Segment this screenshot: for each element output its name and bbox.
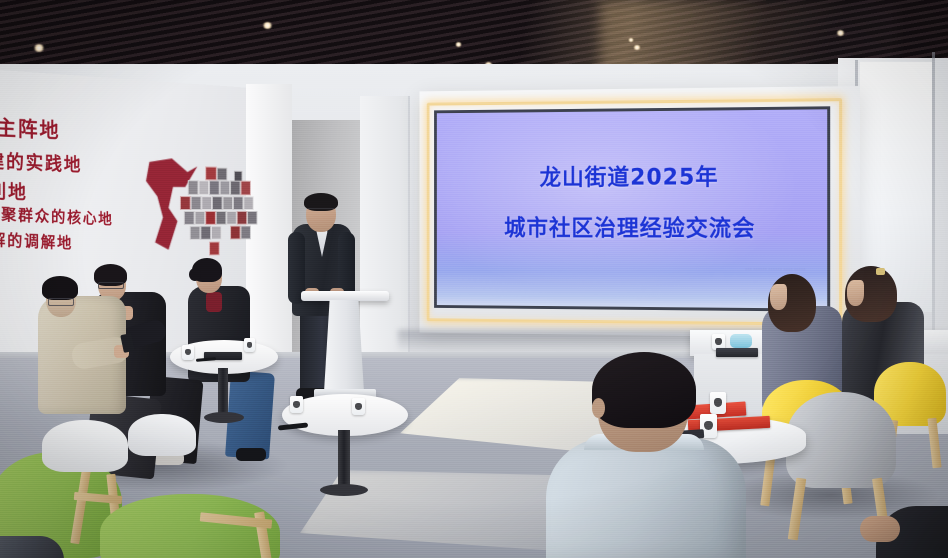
photo-tile	[243, 196, 253, 210]
photo-tile	[230, 226, 240, 240]
attendee-foreground-ear	[592, 398, 605, 418]
photo-tile	[201, 196, 212, 210]
photo-tile	[191, 196, 202, 210]
round-table-left-stem	[218, 368, 228, 416]
paper-cup[interactable]	[290, 396, 303, 413]
attendee-beige-glasses-icon	[48, 298, 74, 306]
meeting-room-photo: 主阵地 建的实践地 利地 凝聚群众的核心地 解的调解地	[0, 0, 948, 558]
calligraphy-line-1: 主阵地	[0, 112, 60, 144]
attendee-blue-jeans-hairbun	[189, 268, 201, 281]
presentation-screen[interactable]: 龙山街道2025年 城市社区治理经验交流会 ◦◦◦ ◦◦◦◦◦◦ ◦◦◦◦◦◦ …	[437, 109, 827, 308]
slide-footnote: ◦◦◦ ◦◦◦◦◦◦ ◦◦◦◦◦◦ ◦◦◦◦ ◦◦◦◦◦	[689, 266, 806, 273]
calligraphy-line-5: 解的调解地	[0, 226, 73, 253]
paper-cup[interactable]	[182, 345, 194, 360]
speaker-glasses	[307, 208, 334, 213]
attendee-black-coat-glasses-icon	[98, 282, 124, 289]
photo-tile	[205, 211, 216, 225]
podium-body	[324, 300, 364, 392]
photo-tile	[190, 226, 201, 240]
photo-tile	[211, 226, 222, 240]
photo-tile	[188, 180, 199, 195]
wall-seam-2	[932, 52, 935, 352]
photo-tile	[200, 226, 211, 240]
photo-tile	[216, 211, 227, 225]
downlight-6	[633, 45, 641, 50]
downlight-9	[33, 44, 45, 52]
photo-tile	[195, 211, 206, 225]
photo-tile	[212, 196, 223, 210]
photo-tile	[241, 226, 251, 240]
photo-collage-grid	[176, 166, 264, 254]
round-table-center-stem	[338, 430, 350, 488]
attendee-blue-jeans-scarf	[206, 292, 222, 312]
paper-cup[interactable]	[244, 338, 255, 352]
photo-tile	[230, 181, 240, 196]
round-table-left-base	[204, 412, 244, 423]
downlight-5	[455, 42, 462, 47]
photo-tile	[209, 242, 220, 256]
slide-title-line-2: 城市社区治理经验交流会	[437, 209, 827, 243]
photo-tile	[233, 196, 243, 210]
attendee-black-vest-face	[847, 280, 864, 306]
attendee-corner-hand	[860, 516, 900, 542]
chair-white-left[interactable]	[42, 420, 128, 472]
photo-tile	[226, 211, 236, 225]
downlight-1	[262, 22, 273, 29]
round-table-center-base	[320, 484, 368, 496]
dark-notebook[interactable]	[716, 348, 758, 357]
photo-tile	[209, 180, 220, 195]
photo-tile	[223, 196, 233, 210]
photo-tile	[237, 211, 247, 225]
photo-tile	[205, 166, 217, 180]
photo-tile	[247, 211, 257, 225]
photo-tile	[184, 211, 195, 225]
attendee-grey-sweater-face	[770, 284, 787, 310]
paper-cup[interactable]	[352, 398, 365, 415]
photo-tile	[217, 168, 227, 181]
podium-top	[301, 291, 389, 301]
photo-tile	[220, 180, 230, 195]
hair-clip	[876, 268, 885, 275]
attendee-blue-jeans-shoe	[236, 448, 266, 461]
downlight-8	[628, 38, 634, 42]
calligraphy-line-2: 建的实践地	[0, 146, 82, 177]
photo-tile	[180, 196, 191, 210]
chair-white-left-2[interactable]	[128, 414, 196, 456]
photo-tile	[198, 180, 209, 195]
wall-seam-3	[408, 96, 410, 364]
attendee-foreground-torso	[546, 438, 746, 558]
water-bottle[interactable]	[730, 334, 752, 348]
photo-tile	[241, 181, 251, 196]
slide-title-line-1: 龙山街道2025年	[437, 157, 827, 192]
downlight-7	[836, 30, 845, 36]
attendee-beige-hair	[42, 276, 78, 300]
attendee-foreground-hair	[592, 352, 696, 428]
paper-cup[interactable]	[710, 392, 726, 414]
